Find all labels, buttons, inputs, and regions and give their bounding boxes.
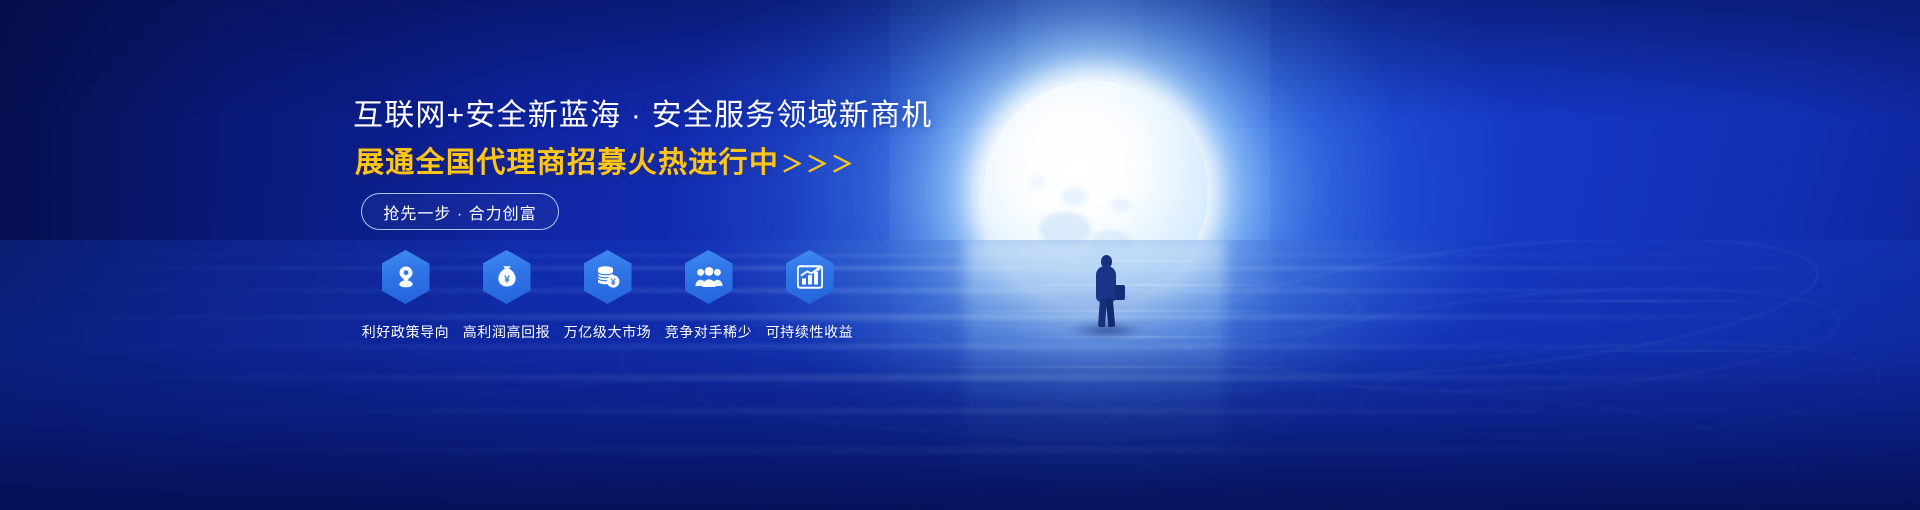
banner-subline: 展通全国代理商招募火热进行中 ＞＞＞ xyxy=(355,145,856,181)
feature-item[interactable]: 利好政策导向 xyxy=(355,250,456,342)
chevron-right-icon: ＞＞＞ xyxy=(781,147,856,179)
feature-item[interactable]: 可持续性收益 xyxy=(759,250,860,342)
feature-badge: ¥ xyxy=(584,250,632,304)
svg-text:¥: ¥ xyxy=(610,277,615,287)
feature-label: 竞争对手稀少 xyxy=(665,322,753,342)
promo-banner: 互联网+安全新蓝海 · 安全服务领域新商机 展通全国代理商招募火热进行中 ＞＞＞… xyxy=(0,0,1920,510)
location-pin-icon xyxy=(382,250,430,304)
feature-label: 利好政策导向 xyxy=(362,322,450,342)
feature-badge xyxy=(786,250,834,304)
feature-item[interactable]: ¥ 万亿级大市场 xyxy=(557,250,658,342)
feature-label: 高利润高回报 xyxy=(463,322,551,342)
feature-item[interactable]: 竞争对手稀少 xyxy=(658,250,759,342)
bar-chart-growth-icon xyxy=(786,250,834,304)
banner-subline-text: 展通全国代理商招募火热进行中 xyxy=(355,145,779,181)
feature-list: 利好政策导向 ¥ 高利润高回报 xyxy=(355,250,860,342)
coin-stack-icon: ¥ xyxy=(584,250,632,304)
feature-label: 万亿级大市场 xyxy=(564,322,652,342)
feature-badge xyxy=(685,250,733,304)
people-group-icon xyxy=(685,250,733,304)
cta-pill-button[interactable]: 抢先一步 · 合力创富 xyxy=(361,193,559,230)
feature-badge xyxy=(382,250,430,304)
banner-headline: 互联网+安全新蓝海 · 安全服务领域新商机 xyxy=(353,97,932,135)
money-bag-icon: ¥ xyxy=(483,250,531,304)
banner-content: 互联网+安全新蓝海 · 安全服务领域新商机 展通全国代理商招募火热进行中 ＞＞＞… xyxy=(0,0,1920,510)
feature-item[interactable]: ¥ 高利润高回报 xyxy=(456,250,557,342)
feature-badge: ¥ xyxy=(483,250,531,304)
svg-text:¥: ¥ xyxy=(504,273,510,285)
feature-label: 可持续性收益 xyxy=(766,322,854,342)
cta-pill-label: 抢先一步 · 合力创富 xyxy=(383,200,536,224)
